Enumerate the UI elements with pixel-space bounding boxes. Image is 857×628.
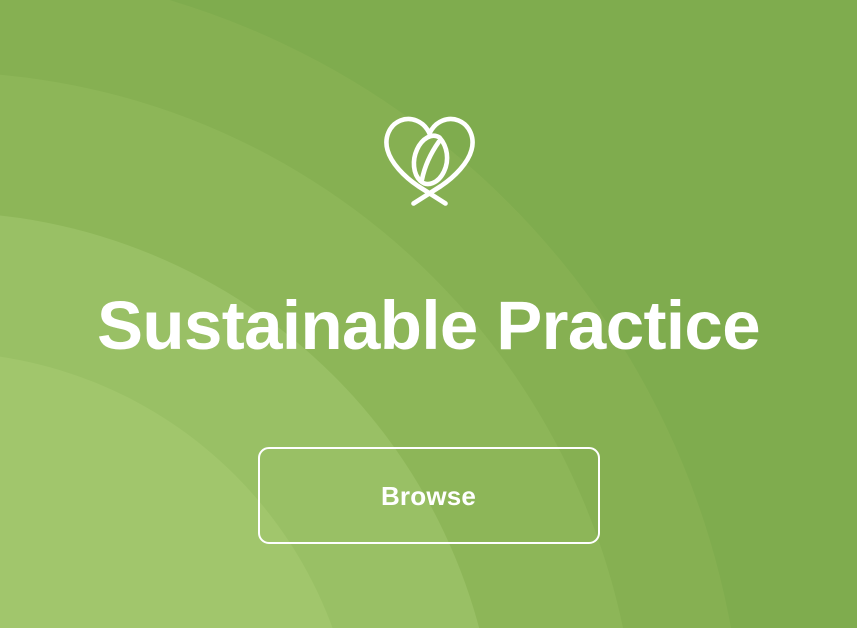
leaf-heart-icon bbox=[377, 108, 481, 212]
arc-band-3 bbox=[0, 212, 498, 628]
browse-button[interactable]: Browse bbox=[258, 447, 600, 544]
hero-icon-container bbox=[0, 108, 857, 212]
sustainable-practice-hero-card: Sustainable Practice Browse bbox=[0, 0, 857, 628]
page-title: Sustainable Practice bbox=[0, 283, 857, 369]
cta-container: Browse bbox=[0, 447, 857, 544]
